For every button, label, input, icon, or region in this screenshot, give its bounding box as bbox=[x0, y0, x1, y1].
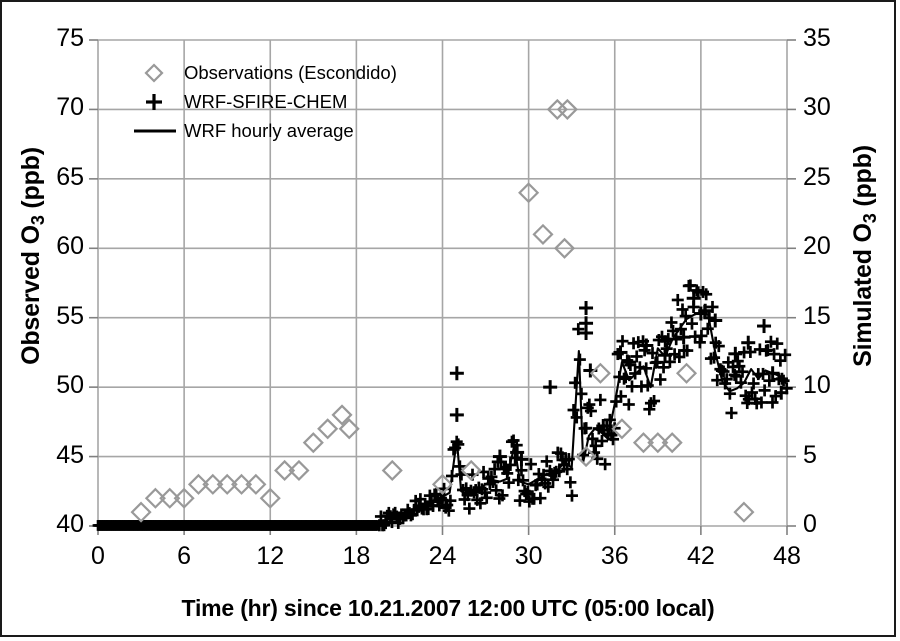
y-left-tick-75: 75 bbox=[26, 24, 84, 53]
x-tick-48: 48 bbox=[753, 542, 821, 571]
y-right-tick-5: 5 bbox=[803, 441, 861, 470]
x-tick-36: 36 bbox=[581, 542, 649, 571]
legend-label-line: WRF hourly average bbox=[184, 120, 354, 142]
y-right-tick-30: 30 bbox=[803, 93, 861, 122]
chart-figure: 4045505560657075 05101520253035 06121824… bbox=[0, 0, 896, 637]
y-axis-left-title: Observed O3 (ppb) bbox=[17, 141, 49, 371]
x-tick-42: 42 bbox=[667, 542, 735, 571]
x-tick-18: 18 bbox=[322, 542, 390, 571]
x-axis-title: Time (hr) since 10.21.2007 12:00 UTC (05… bbox=[2, 595, 894, 622]
y-left-tick-45: 45 bbox=[26, 441, 84, 470]
y-left-title-main: Observed O bbox=[17, 225, 45, 365]
y-right-title-tail: (ppb) bbox=[849, 145, 877, 213]
x-tick-6: 6 bbox=[150, 542, 218, 571]
legend-label-plus: WRF-SFIRE-CHEM bbox=[184, 91, 347, 113]
x-tick-30: 30 bbox=[495, 542, 563, 571]
y-right-tick-35: 35 bbox=[803, 24, 861, 53]
y-left-tick-70: 70 bbox=[26, 93, 84, 122]
x-tick-0: 0 bbox=[64, 542, 132, 571]
y-left-tick-50: 50 bbox=[26, 371, 84, 400]
legend-label-diamond: Observations (Escondido) bbox=[184, 62, 397, 84]
y-right-tick-10: 10 bbox=[803, 371, 861, 400]
x-tick-24: 24 bbox=[409, 542, 477, 571]
y-right-title-main: Simulated O bbox=[849, 223, 877, 367]
x-tick-12: 12 bbox=[236, 542, 304, 571]
y-right-title-sub: 3 bbox=[860, 213, 880, 223]
y-left-title-sub: 3 bbox=[28, 215, 48, 225]
y-right-tick-0: 0 bbox=[803, 510, 861, 539]
y-left-title-tail: (ppb) bbox=[17, 147, 45, 215]
y-axis-right-title: Simulated O3 (ppb) bbox=[849, 141, 881, 371]
y-left-tick-40: 40 bbox=[26, 510, 84, 539]
legend-markers bbox=[134, 65, 176, 131]
